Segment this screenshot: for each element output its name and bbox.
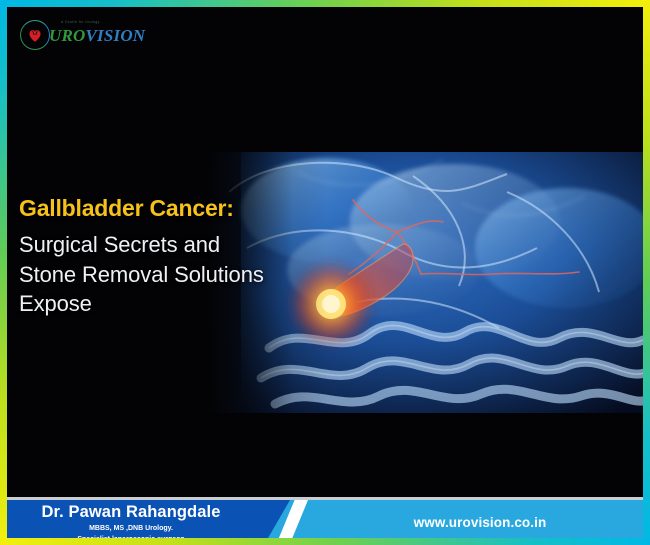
website-url[interactable]: www.urovision.co.in xyxy=(414,515,547,530)
logo-wordmark: A Centre for Urology UROVISION xyxy=(49,27,145,44)
doctor-credentials-block: Dr. Pawan Rahangdale MBBS, MS ,DNB Urolo… xyxy=(0,503,262,545)
poster-canvas: A Centre for Urology UROVISION xyxy=(0,0,650,545)
doctor-name: Dr. Pawan Rahangdale xyxy=(0,503,262,522)
logo-tagline: A Centre for Urology xyxy=(61,21,100,24)
footer-bar: Dr. Pawan Rahangdale MBBS, MS ,DNB Urolo… xyxy=(0,500,650,545)
website-block[interactable]: www.urovision.co.in xyxy=(310,500,650,545)
headline-line-3: Expose xyxy=(19,289,319,319)
border-left-gradient xyxy=(0,0,7,545)
heart-kidney-icon xyxy=(28,29,42,43)
logo-word-vision: VISION xyxy=(86,26,146,45)
headline-emphasis: Gallbladder Cancer: xyxy=(19,195,319,222)
border-top-gradient xyxy=(0,0,650,7)
doctor-credential-line-2: Specialist laparoscopic surgeon xyxy=(0,535,262,544)
border-right-gradient xyxy=(643,0,650,545)
headline-line-1: Surgical Secrets and xyxy=(19,230,319,260)
urovision-circle-heart-mark xyxy=(20,20,50,50)
headline-block: Gallbladder Cancer: Surgical Secrets and… xyxy=(19,195,319,319)
logo-word-uro: URO xyxy=(49,26,86,45)
doctor-credential-line-1: MBBS, MS ,DNB Urology. xyxy=(0,524,262,533)
logo-word: UROVISION xyxy=(49,27,145,44)
footer-divider xyxy=(0,497,650,500)
headline-line-2: Stone Removal Solutions xyxy=(19,260,319,290)
poster-stage: A Centre for Urology UROVISION xyxy=(7,7,643,538)
brand-logo[interactable]: A Centre for Urology UROVISION xyxy=(20,20,145,50)
